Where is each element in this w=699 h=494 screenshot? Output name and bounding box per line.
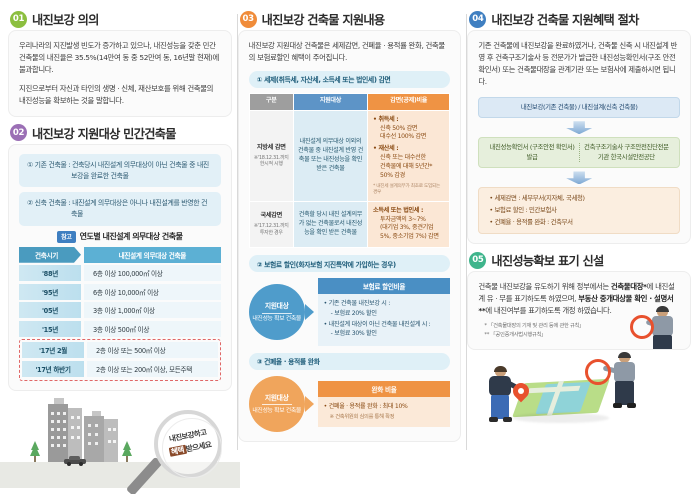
tax-header-target: 지원대상 [293, 93, 367, 110]
section-02-bullet-1-text: ① 기존 건축물 : 건축당시 내진설계 의무대상이 아닌 건축물 중 내진보강… [27, 160, 213, 181]
insurance-item: • 기존 건축물 내진보강 시 :- 보험료 20% 할인 [324, 299, 445, 318]
tax-rate-line: (대기업 3%, 중견기업 [373, 224, 444, 233]
section-04: 04 내진보강 건축물 지원혜택 절차 기존 건축물에 내진보강을 완료하였거나… [467, 10, 691, 244]
arrow-down-icon-2 [566, 171, 592, 184]
tax-rate-line: 건축물에 대해 5년간* [373, 163, 444, 172]
year-table-cell-period: '17년 2월 [22, 342, 84, 358]
section-05-title: 내진성능확보 표기 신설 [491, 251, 603, 269]
tax-rate-line: 대수선 100% 감면 [373, 133, 444, 142]
year-table-row: '15년3층 이상 500㎡ 이상 [19, 321, 221, 337]
section-05-header: 05 내진성능확보 표기 신설 [467, 251, 691, 269]
tax-cell-target: 내진설계 의무대상 이외의 건축물 중 내진설계 반영 건축물 또는 내진성능을… [293, 110, 367, 201]
section-05-card: 건축물 내진보강을 유도하기 위해 정부에서는 건축물대장*에 내진설계 유 ·… [467, 271, 691, 350]
section-04-title: 내진보강 건축물 지원혜택 절차 [491, 10, 638, 28]
section-03-title: 내진보강 건축물 지원내용 [262, 10, 385, 28]
reference-badge: 참고 [57, 231, 75, 243]
section-05-text-3: 에 내진여부를 표기하도록 개정 하였습니다. [485, 306, 611, 315]
flow-step-2-left: 내진성능확인서 (구조안전 확인서) 발급 [485, 143, 578, 162]
reference-label: 연도별 내진설계 의무대상 건축물 [80, 231, 183, 242]
arrow-down-icon-1 [566, 121, 592, 134]
insurance-target-circle: 지원대상 내진성능 확보 건축물 [249, 284, 305, 340]
section-02: 02 내진보강 지원대상 민간건축물 ① 기존 건축물 : 건축당시 내진설계 … [8, 124, 232, 391]
illustration-map-people [467, 359, 691, 433]
tax-rate-head: • 재산세 : [373, 145, 398, 152]
building-tall-icon [48, 404, 82, 462]
section-03-subhead-2: ② 보험료 할인(화자보험 지진특약에 가입하는 경우) [249, 255, 451, 272]
year-table-row: '88년6층 이상 100,000㎡ 이상 [19, 265, 221, 281]
relax-detail-list: • 건폐율 · 용적률 완화 : 최대 10% ※ 건축위원회 심의를 통해 확… [318, 397, 451, 427]
column-left: 01 내진보강 의의 우리나라의 지진발생 빈도가 증가하고 있으나, 내진성능… [8, 10, 232, 488]
year-table-row: '05년3층 이상 1,000㎡ 이상 [19, 302, 221, 318]
section-03-subhead-1: ① 세제(취득세, 자산세, 소득세 또는 법인세) 감면 [249, 71, 451, 88]
section-03-intro: 내진보강 지원대상 건축물은 세제감면, 건폐율 · 용적률 완화, 건축물의 … [249, 40, 451, 64]
flow-step-2: 내진성능확인서 (구조안전 확인서) 발급 건축구조기술사 구조안전진단전문기관… [478, 137, 680, 168]
section-02-bullet-2: ② 신축 건축물 : 내진설계 의무대상은 아니나 내진설계를 반영한 건축물 [19, 192, 221, 225]
tax-gubun-sub: ※'17.12.31.까지 투자한 경우 [252, 223, 291, 237]
insurance-item: • 내진설계 대상이 아닌 건축물 내진설계 시 :- 보험료 30% 할인 [324, 320, 445, 339]
magnifier-icon: 내진보강하고 혜택받으세요 [136, 408, 232, 494]
year-table-cell-target: 3층 이상 500㎡ 이상 [84, 321, 221, 337]
insurance-circle-bottom: 내진성능 확보 건축물 [252, 316, 301, 324]
flow-step-3-item: • 보험료 할인 : 민간보험사 [489, 206, 669, 215]
tax-gubun-main: 국세감면 [252, 212, 291, 221]
tax-gubun-main: 지방세 감면 [252, 144, 291, 153]
tax-rate-line: 5%, 중소기업 7%) 감면 [373, 233, 444, 242]
section-01: 01 내진보강 의의 우리나라의 지진발생 빈도가 증가하고 있으나, 내진성능… [8, 10, 232, 117]
section-04-flowchart: 내진보강(기존 건축물) / 내진설계(신축 건축물) 내진성능확인서 (구조안… [478, 97, 680, 234]
year-table-cell-period: '05년 [19, 302, 81, 318]
section-02-header: 02 내진보강 지원대상 민간건축물 [8, 124, 232, 142]
column-middle: 03 내진보강 건축물 지원내용 내진보강 지원대상 건축물은 세제감면, 건폐… [238, 10, 462, 488]
far-relaxation-block: 지원대상 내진성능 확보 건축물 완화 비율 • 건폐율 · 용적률 완화 : … [249, 376, 451, 432]
map-pin-icon [513, 383, 529, 405]
tree-icon-left [30, 440, 40, 462]
tree-icon-right [122, 440, 132, 462]
flow-step-2-right: 건축구조기술사 구조안전진단전문기관 한국시설안전공단 [580, 143, 673, 162]
year-table-row: '17년 하반기2층 이상 또는 200㎡ 이상, 모든주택 [22, 361, 218, 377]
year-table-header-row: 건축시기내진설계 의무대상 건축물 [19, 247, 221, 263]
flow-step-3-item: • 세제감면 : 세무부서(지자체, 국세청) [489, 194, 669, 203]
insurance-detail: 보험료 할인비율 • 기존 건축물 내진보강 시 :- 보험료 20% 할인• … [318, 278, 451, 346]
magnifier-highlight: 혜택 [168, 445, 186, 457]
section-05-number: 05 [469, 252, 486, 269]
section-01-number: 01 [10, 11, 27, 28]
tax-rate-item: • 재산세 :신축 또는 대수선한건축물에 대해 5년간*50% 감경 [373, 145, 444, 180]
year-table-cell-period: '95년 [19, 284, 81, 300]
year-table-row: '95년6층 이상 10,000㎡ 이상 [19, 284, 221, 300]
insurance-item-sub: - 보험료 20% 할인 [324, 309, 445, 318]
flow-step-3: • 세제감면 : 세무부서(지자체, 국세청)• 보험료 할인 : 민간보험사•… [478, 187, 680, 234]
section-03-subhead-3: ③ 건폐율 · 용적률 완화 [249, 353, 451, 370]
tax-table-row: 지방세 감면※'18.12.31.까지 한시적 시행내진설계 의무대상 이외의 … [249, 110, 450, 201]
tax-rate-head: 소득세 또는 법인세 : [373, 207, 423, 214]
tax-rate-item: 소득세 또는 법인세 :투자금액의 3~7%(대기업 3%, 중견기업5%, 중… [373, 207, 444, 242]
building-mid-icon [84, 416, 118, 462]
section-02-card: ① 기존 건축물 : 건축당시 내진설계 의무대상이 아닌 건축물 중 내진보강… [8, 144, 232, 391]
year-table-cell-period: '88년 [19, 265, 81, 281]
section-05-text-1: 건축물 내진보강을 유도하기 위해 정부에서는 [478, 282, 611, 291]
section-01-paragraph-1: 우리나라의 지진발생 빈도가 증가하고 있으나, 내진성능을 갖춘 민간건축물의… [19, 40, 221, 76]
year-table-cell-period: '17년 하반기 [22, 361, 84, 377]
relax-circle-bottom: 내진성능 확보 건축물 [252, 408, 301, 416]
section-04-header: 04 내진보강 건축물 지원혜택 절차 [467, 10, 691, 28]
tax-cell-rate: 소득세 또는 법인세 :투자금액의 3~7%(대기업 3%, 중견기업5%, 중… [368, 201, 450, 247]
section-05-bold-1: 건축물대장* [611, 282, 647, 291]
insurance-discount-block: 지원대상 내진성능 확보 건축물 보험료 할인비율 • 기존 건축물 내진보강 … [249, 278, 451, 346]
section-02-number: 02 [10, 124, 27, 141]
hoop-icon-person-standing [630, 315, 654, 339]
year-table-cell-target: 2층 이상 또는 200㎡ 이상, 모든주택 [87, 361, 218, 377]
insurance-circle-top: 지원대상 [265, 300, 289, 310]
relax-circle-top: 지원대상 [265, 392, 289, 402]
tax-rate-line: 50% 감경 [373, 172, 444, 181]
tax-rate-head: • 취득세 : [373, 116, 398, 123]
arrow-right-icon-insurance [305, 304, 314, 320]
tax-cell-target: 건축할 당시 내진 설계의무가 없는 건축물로서 내진성능을 확인 받은 건축물 [293, 201, 367, 247]
relax-circle-rule [262, 404, 292, 405]
section-02-bullet-1: ① 기존 건축물 : 건축당시 내진설계 의무대상이 아닌 건축물 중 내진보강… [19, 154, 221, 187]
tax-rate-line: 신축 또는 대수선한 [373, 154, 444, 163]
section-03: 03 내진보강 건축물 지원내용 내진보강 지원대상 건축물은 세제감면, 건폐… [238, 10, 462, 442]
insurance-circle-rule [262, 313, 292, 314]
tax-cell-rate: • 취득세 :신축 50% 감면대수선 100% 감면• 재산세 :신축 또는 … [368, 110, 450, 201]
section-04-number: 04 [469, 11, 486, 28]
year-table-cell-target: 6층 이상 10,000㎡ 이상 [84, 284, 221, 300]
infographic-page: 01 내진보강 의의 우리나라의 지진발생 빈도가 증가하고 있으나, 내진성능… [0, 0, 699, 494]
tax-table-row: 국세감면※'17.12.31.까지 투자한 경우건축할 당시 내진 설계의무가 … [249, 201, 450, 247]
year-table-cell-target: 3층 이상 1,000㎡ 이상 [84, 302, 221, 318]
insurance-detail-list: • 기존 건축물 내진보강 시 :- 보험료 20% 할인• 내진설계 대상이 … [318, 294, 451, 346]
year-table-cell-target: 6층 이상 100,000㎡ 이상 [84, 265, 221, 281]
section-02-bullet-2-text: ② 신축 건축물 : 내진설계 의무대상은 아니나 내진설계를 반영한 건축물 [27, 198, 213, 219]
section-04-intro: 기존 건축물에 내진보강을 완료하였거나, 건축물 신축 시 내진설계 반영 후… [478, 40, 680, 88]
tax-rate-note: * 내진세 설계의무가 최초로 도입되는 경우 [373, 184, 444, 196]
tax-cell-gubun: 지방세 감면※'18.12.31.까지 한시적 시행 [249, 110, 293, 201]
seismic-design-year-table: 건축시기내진설계 의무대상 건축물'88년6층 이상 100,000㎡ 이상'9… [19, 247, 221, 381]
section-01-title: 내진보강 의의 [32, 10, 99, 28]
section-01-paragraph-2: 지진으로부터 자신과 타인의 생명 · 신체, 재산보호를 위해 건축물의 내진… [19, 83, 221, 107]
section-03-card: 내진보강 지원대상 건축물은 세제감면, 건폐율 · 용적률 완화, 건축물의 … [238, 30, 462, 442]
illustration-buildings-magnifier: 내진보강하고 혜택받으세요 [8, 402, 232, 488]
relax-target-circle: 지원대상 내진성능 확보 건축물 [249, 376, 305, 432]
tax-cell-gubun: 국세감면※'17.12.31.까지 투자한 경우 [249, 201, 293, 247]
insurance-item-sub: - 보험료 30% 할인 [324, 329, 445, 338]
year-table-header-period: 건축시기 [19, 247, 81, 263]
section-01-card: 우리나라의 지진발생 빈도가 증가하고 있으나, 내진성능을 갖춘 민간건축물의… [8, 30, 232, 117]
person-icon-right [607, 353, 647, 413]
section-03-number: 03 [240, 11, 257, 28]
insurance-detail-title: 보험료 할인비율 [318, 278, 451, 294]
tax-table-header-row: 구분지원대상감면(공제)비율 [249, 93, 450, 110]
relax-item-main: • 건폐율 · 용적률 완화 : 최대 10% [324, 402, 445, 411]
year-table-cell-period: '15년 [19, 321, 81, 337]
hoop-icon-person-right [585, 359, 611, 385]
tax-header-gubun: 구분 [249, 93, 293, 110]
tax-header-rate: 감면(공제)비율 [368, 93, 450, 110]
car-icon [64, 457, 86, 466]
flow-step-3-item: • 건폐율 · 용적률 완화 : 건축부서 [489, 218, 669, 227]
tax-exemption-table: 구분지원대상감면(공제)비율지방세 감면※'18.12.31.까지 한시적 시행… [249, 93, 451, 248]
year-table-row: '17년 2월2층 이상 또는 500㎡ 이상 [22, 342, 218, 358]
relax-detail-title: 완화 비율 [318, 381, 451, 397]
year-table-header-target: 내진설계 의무대상 건축물 [84, 247, 221, 263]
section-03-header: 03 내진보강 건축물 지원내용 [238, 10, 462, 28]
section-04-card: 기존 건축물에 내진보강을 완료하였거나, 건축물 신축 시 내진설계 반영 후… [467, 30, 691, 244]
year-table-highlight-group: '17년 2월2층 이상 또는 500㎡ 이상'17년 하반기2층 이상 또는 … [19, 339, 221, 381]
person-icon-standing [646, 307, 680, 350]
reference-title: 참고 연도별 내진설계 의무대상 건축물 [19, 231, 221, 243]
column-right: 04 내진보강 건축물 지원혜택 절차 기존 건축물에 내진보강을 완료하였거나… [467, 10, 691, 488]
section-05: 05 내진성능확보 표기 신설 건축물 내진보강을 유도하기 위해 정부에서는 … [467, 251, 691, 350]
year-table-cell-target: 2층 이상 또는 500㎡ 이상 [87, 342, 218, 358]
tax-gubun-sub: ※'18.12.31.까지 한시적 시행 [252, 155, 291, 169]
flow-step-1: 내진보강(기존 건축물) / 내진설계(신축 건축물) [478, 97, 680, 118]
relax-item-note: ※ 건축위원회 심의를 통해 확정 [324, 413, 445, 421]
arrow-right-icon-relax [305, 396, 314, 412]
section-02-title: 내진보강 지원대상 민간건축물 [32, 124, 176, 142]
tax-rate-item: • 취득세 :신축 50% 감면대수선 100% 감면 [373, 116, 444, 142]
relax-detail: 완화 비율 • 건폐율 · 용적률 완화 : 최대 10% ※ 건축위원회 심의… [318, 381, 451, 427]
section-01-header: 01 내진보강 의의 [8, 10, 232, 28]
